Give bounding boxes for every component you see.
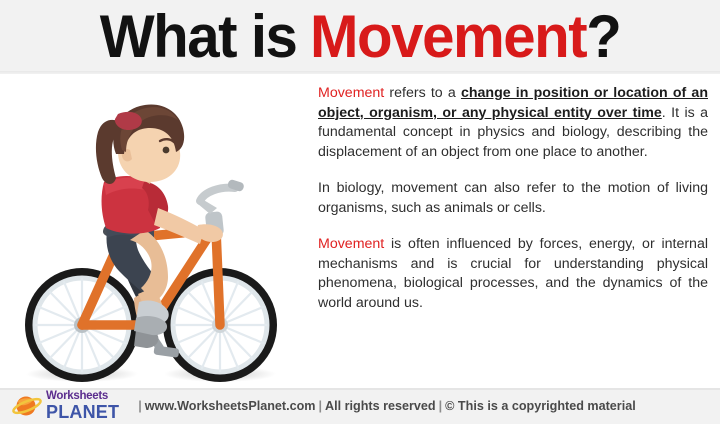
footer-band: Worksheets PLANET |www.WorksheetsPlanet.… <box>0 388 720 424</box>
footer-credits: |www.WorksheetsPlanet.com|All rights res… <box>135 399 636 413</box>
paragraph-3: Movement is often influenced by forces, … <box>318 235 708 313</box>
footer-separator-2: | <box>316 399 326 413</box>
girl-riding-bicycle-illustration <box>8 62 308 392</box>
paragraph-1-lead: refers to a <box>384 85 461 101</box>
footer-separator-3: | <box>436 399 446 413</box>
paragraph-2-text: In biology, movement can also refer to t… <box>318 180 708 216</box>
footer-copyright: © This is a copyrighted material <box>445 399 636 413</box>
title-black-text: What is <box>100 7 297 67</box>
logo-planet-text: PLANET <box>46 403 119 421</box>
paragraph-1: Movement refers to a change in position … <box>318 84 708 162</box>
keyword-movement-2: Movement <box>318 236 384 252</box>
rider-head <box>96 104 184 184</box>
footer-separator-1: | <box>135 399 145 413</box>
footer-website[interactable]: www.WorksheetsPlanet.com <box>145 399 316 413</box>
paragraph-2: In biology, movement can also refer to t… <box>318 179 708 218</box>
title-question-mark: ? <box>586 7 620 67</box>
logo-wordmark: Worksheets PLANET <box>46 391 119 422</box>
logo-worksheets-text: Worksheets <box>46 391 119 403</box>
worksheets-planet-logo[interactable]: Worksheets PLANET <box>12 391 119 422</box>
worksheet-page: What is Movement ? <box>0 0 720 424</box>
planet-icon <box>12 393 42 419</box>
definition-text-column: Movement refers to a change in position … <box>318 84 708 313</box>
keyword-movement-1: Movement <box>318 85 384 101</box>
title-red-text: Movement <box>310 7 586 67</box>
footer-rights: All rights reserved <box>325 399 436 413</box>
